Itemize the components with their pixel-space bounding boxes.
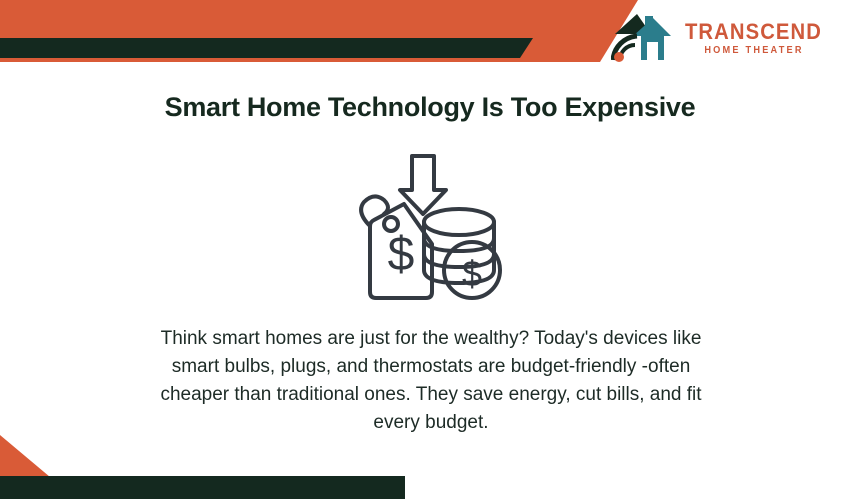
brand-logo: TRANSCEND HOME THEATER (611, 10, 828, 66)
top-green-bar (0, 38, 545, 58)
logo-title: TRANSCEND (685, 21, 822, 43)
logo-subtitle: HOME THEATER (704, 46, 803, 56)
logo-wordmark: TRANSCEND HOME THEATER (679, 21, 828, 56)
bottom-orange-triangle (0, 435, 50, 477)
page-title: Smart Home Technology Is Too Expensive (0, 92, 860, 123)
house-wifi-icon (611, 10, 673, 66)
tag-dollar-symbol: $ (388, 228, 415, 281)
price-drop-icon: $ $ (350, 152, 510, 304)
body-paragraph: Think smart homes are just for the wealt… (148, 325, 714, 437)
coin-dollar-symbol: $ (462, 253, 482, 294)
bottom-green-bar (0, 476, 405, 499)
